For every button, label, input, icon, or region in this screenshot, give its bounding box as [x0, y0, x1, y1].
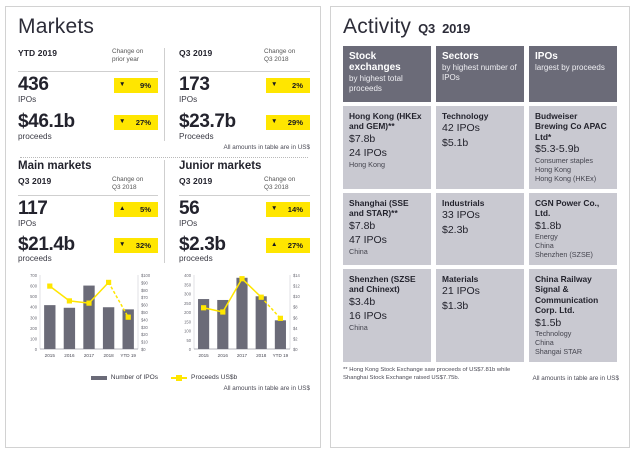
status-badge: ▼ 32% — [114, 238, 158, 253]
activity-panel: Activity Q3 2019 Stock exchanges by high… — [330, 6, 630, 448]
section-title: Main markets — [18, 160, 158, 172]
svg-text:100: 100 — [30, 337, 38, 342]
entity-value: $3.4b — [349, 296, 425, 310]
stat-proceeds: $21.4b proceeds ▼ 32% — [18, 234, 158, 264]
entity-value-2: $1.3b — [442, 300, 518, 314]
stat-period-label: Q3 2019 — [179, 176, 212, 186]
section-junior-markets: Junior markets Q3 2019 Change on Q3 2018… — [164, 160, 310, 264]
markets-top-stats: YTD 2019 Change on prior year 436 IPOs — [18, 48, 310, 141]
entity-name: Shenzhen (SZSE and Chinext) — [349, 274, 425, 295]
chart-legend: Number of IPOs Proceeds US$b — [18, 374, 310, 381]
svg-text:$2: $2 — [293, 337, 298, 342]
svg-text:2015: 2015 — [45, 353, 56, 358]
stat-label: IPOs — [18, 95, 49, 104]
entity-value: 21 IPOs — [442, 285, 518, 299]
page-title: Activity — [343, 15, 411, 39]
svg-text:$20: $20 — [141, 333, 149, 338]
column-title-line1: IPOs — [535, 51, 611, 62]
svg-text:700: 700 — [30, 273, 38, 278]
markets-sub-stats: Main markets Q3 2019 Change on Q3 2018 1… — [18, 160, 310, 264]
arrow-down-icon: ▼ — [119, 242, 125, 249]
svg-text:$4: $4 — [293, 326, 298, 331]
stat-value: $46.1b — [18, 111, 75, 133]
badge-value: 14% — [288, 205, 303, 214]
cell-sector: Industrials 33 IPOs $2.3b — [436, 193, 524, 265]
arrow-up-icon: ▲ — [119, 206, 125, 213]
cell-sector: Technology 42 IPOs $5.1b — [436, 106, 524, 189]
svg-text:$100: $100 — [141, 273, 151, 278]
svg-text:YTD 19: YTD 19 — [273, 353, 289, 358]
entity-name: Hong Kong (HKEx and GEM)** — [349, 111, 425, 132]
svg-text:$6: $6 — [293, 316, 298, 321]
change-caption-line2: prior year — [112, 56, 158, 64]
stat-value: $23.7b — [179, 111, 236, 133]
change-caption-line2: Q3 2018 — [264, 184, 310, 192]
svg-text:2015: 2015 — [198, 353, 209, 358]
entity-value-2: $2.3b — [442, 224, 518, 238]
svg-text:2017: 2017 — [84, 353, 95, 358]
svg-text:$70: $70 — [141, 296, 149, 301]
entity-value: $5.3-5.9b — [535, 143, 611, 157]
status-badge: ▼ 2% — [266, 78, 310, 93]
entity-value: $1.5b — [535, 317, 611, 331]
entity-name: CGN Power Co., Ltd. — [535, 198, 611, 219]
arrow-down-icon: ▼ — [271, 82, 277, 89]
change-caption-line2: Q3 2018 — [264, 56, 310, 64]
svg-text:300: 300 — [30, 316, 38, 321]
svg-text:$14: $14 — [293, 273, 301, 278]
column-subtitle: by highest number of IPOs — [442, 63, 518, 82]
svg-text:$50: $50 — [141, 310, 149, 315]
stat-period-label: Q3 2019 — [18, 176, 51, 186]
stat-proceeds: $23.7b Proceeds ▼ 29% — [179, 111, 310, 141]
divider — [179, 71, 310, 72]
stat-label: Proceeds — [179, 132, 236, 141]
entity-value: 33 IPOs — [442, 209, 518, 223]
change-caption: Change on prior year — [112, 48, 158, 64]
entity-name: Materials — [442, 274, 518, 284]
stat-value: $2.3b — [179, 234, 226, 256]
svg-text:100: 100 — [184, 329, 192, 334]
svg-text:350: 350 — [184, 283, 192, 288]
svg-text:$10: $10 — [141, 340, 149, 345]
entity-meta: Hong Kong — [349, 161, 425, 170]
dotted-divider — [20, 157, 308, 158]
status-badge: ▼ 27% — [114, 115, 158, 130]
stat-value: 56 — [179, 198, 199, 220]
entity-meta-3: Shangai STAR — [535, 348, 611, 357]
line-swatch-icon — [171, 377, 187, 379]
change-caption: Change on Q3 2018 — [264, 48, 310, 64]
entity-value-2: 47 IPOs — [349, 234, 425, 248]
stat-label: proceeds — [18, 132, 75, 141]
badge-value: 2% — [292, 81, 303, 90]
svg-text:2016: 2016 — [64, 353, 75, 358]
svg-text:400: 400 — [184, 273, 192, 278]
stat-label: proceeds — [179, 254, 226, 263]
stat-value: 117 — [18, 198, 47, 220]
svg-text:200: 200 — [30, 326, 38, 331]
svg-text:$30: $30 — [141, 325, 149, 330]
entity-name: Shanghai (SSE and STAR)** — [349, 198, 425, 219]
cell-ipo: Budweiser Brewing Co APAC Ltd* $5.3-5.9b… — [529, 106, 617, 189]
entity-meta-3: Hong Kong (HKEx) — [535, 175, 611, 184]
divider — [18, 195, 158, 196]
page-title: Markets — [18, 15, 310, 39]
column-headers: Stock exchanges by highest total proceed… — [343, 46, 619, 102]
bar-swatch-icon — [91, 376, 107, 380]
stat-value: $21.4b — [18, 234, 75, 256]
table-row: Shanghai (SSE and STAR)** $7.8b 47 IPOs … — [343, 193, 619, 265]
status-badge: ▲ 27% — [266, 238, 310, 253]
status-badge: ▼ 9% — [114, 78, 158, 93]
table-row: Shenzhen (SZSE and Chinext) $3.4b 16 IPO… — [343, 269, 619, 362]
badge-value: 27% — [136, 118, 151, 127]
svg-text:$80: $80 — [141, 288, 149, 293]
entity-value-2: $5.1b — [442, 137, 518, 151]
column-header-sectors: Sectors by highest number of IPOs — [436, 46, 524, 102]
column-subtitle: largest by proceeds — [535, 63, 611, 73]
badge-value: 9% — [140, 81, 151, 90]
column-title-line1: Stock — [349, 51, 425, 62]
entity-value: $7.8b — [349, 220, 425, 234]
main-markets-chart: 0100200300400500600700$0$10$20$30$40$50$… — [18, 271, 164, 371]
badge-value: 32% — [136, 241, 151, 250]
column-header-stock-exchanges: Stock exchanges by highest total proceed… — [343, 46, 431, 102]
svg-text:0: 0 — [189, 347, 192, 352]
column-subtitle: by highest total proceeds — [349, 74, 425, 93]
change-caption-line1: Change on — [112, 48, 158, 56]
svg-text:50: 50 — [186, 338, 191, 343]
entity-value-2: 24 IPOs — [349, 147, 425, 161]
activity-title-row: Activity Q3 2019 — [343, 15, 619, 39]
stat-ipos: 436 IPOs ▼ 9% — [18, 74, 158, 104]
column-header-ipos: IPOs largest by proceeds — [529, 46, 617, 102]
arrow-down-icon: ▼ — [271, 206, 277, 213]
badge-value: 27% — [288, 241, 303, 250]
svg-text:$12: $12 — [293, 284, 301, 289]
status-badge: ▼ 29% — [266, 115, 310, 130]
stat-proceeds: $46.1b proceeds ▼ 27% — [18, 111, 158, 141]
svg-text:$90: $90 — [141, 281, 149, 286]
infographic-page: Markets YTD 2019 Change on prior year 43… — [0, 0, 640, 454]
svg-text:500: 500 — [30, 295, 38, 300]
entity-meta: China — [349, 324, 425, 333]
cell-sector: Materials 21 IPOs $1.3b — [436, 269, 524, 362]
svg-text:0: 0 — [35, 347, 38, 352]
entity-name: Industrials — [442, 198, 518, 208]
svg-text:300: 300 — [184, 292, 192, 297]
stat-period-label: Q3 2019 — [179, 48, 212, 58]
cell-exchange: Shenzhen (SZSE and Chinext) $3.4b 16 IPO… — [343, 269, 431, 362]
entity-meta: China — [349, 248, 425, 257]
svg-text:2018: 2018 — [256, 353, 267, 358]
chart-svg: 0100200300400500600700$0$10$20$30$40$50$… — [18, 271, 164, 371]
title-year: 2019 — [442, 21, 470, 36]
entity-value: 42 IPOs — [442, 122, 518, 136]
entity-name: China Railway Signal & Communication Cor… — [535, 274, 611, 316]
charts-row: 0100200300400500600700$0$10$20$30$40$50$… — [18, 271, 310, 371]
svg-text:600: 600 — [30, 284, 38, 289]
footnote: ** Hong Kong Stock Exchange saw proceeds… — [343, 367, 513, 382]
change-caption: Change on Q3 2018 — [264, 176, 310, 192]
arrow-down-icon: ▼ — [119, 82, 125, 89]
svg-text:400: 400 — [30, 305, 38, 310]
cell-exchange: Shanghai (SSE and STAR)** $7.8b 47 IPOs … — [343, 193, 431, 265]
stat-block-q3: Q3 2019 Change on Q3 2018 173 IPOs — [164, 48, 310, 141]
svg-text:YTD 19: YTD 19 — [120, 353, 136, 358]
amounts-note: All amounts in table are in US$ — [533, 375, 619, 382]
column-title-line2: exchanges — [349, 62, 425, 73]
entity-value: $1.8b — [535, 220, 611, 234]
stat-label: IPOs — [179, 219, 199, 228]
divider — [179, 195, 310, 196]
legend-label: Number of IPOs — [111, 374, 158, 381]
svg-text:$60: $60 — [141, 303, 149, 308]
entity-name: Technology — [442, 111, 518, 121]
entity-name: Budweiser Brewing Co APAC Ltd* — [535, 111, 611, 142]
status-badge: ▲ 5% — [114, 202, 158, 217]
svg-text:$0: $0 — [293, 347, 298, 352]
legend-label: Proceeds US$b — [191, 374, 237, 381]
change-caption-line1: Change on — [112, 176, 158, 184]
cell-ipo: CGN Power Co., Ltd. $1.8b Energy China S… — [529, 193, 617, 265]
svg-text:2016: 2016 — [218, 353, 229, 358]
svg-text:2017: 2017 — [237, 353, 248, 358]
badge-value: 5% — [140, 205, 151, 214]
badge-value: 29% — [288, 118, 303, 127]
stat-period-label: YTD 2019 — [18, 48, 57, 58]
arrow-down-icon: ▼ — [119, 119, 125, 126]
svg-text:250: 250 — [184, 301, 192, 306]
svg-text:150: 150 — [184, 320, 192, 325]
cell-exchange: Hong Kong (HKEx and GEM)** $7.8b 24 IPOs… — [343, 106, 431, 189]
stat-ipos: 56 IPOs ▼ 14% — [179, 198, 310, 228]
column-title-line1: Sectors — [442, 51, 518, 62]
stat-value: 173 — [179, 74, 210, 96]
stat-block-ytd: YTD 2019 Change on prior year 436 IPOs — [18, 48, 164, 141]
arrow-up-icon: ▲ — [271, 242, 277, 249]
markets-panel: Markets YTD 2019 Change on prior year 43… — [5, 6, 321, 448]
entity-meta-3: Shenzhen (SZSE) — [535, 251, 611, 260]
status-badge: ▼ 14% — [266, 202, 310, 217]
stat-proceeds: $2.3b proceeds ▲ 27% — [179, 234, 310, 264]
table-row: Hong Kong (HKEx and GEM)** $7.8b 24 IPOs… — [343, 106, 619, 189]
entity-value: $7.8b — [349, 133, 425, 147]
divider — [18, 71, 158, 72]
arrow-down-icon: ▼ — [271, 119, 277, 126]
svg-text:200: 200 — [184, 310, 192, 315]
stat-label: IPOs — [18, 219, 47, 228]
stat-ipos: 173 IPOs ▼ 2% — [179, 74, 310, 104]
legend-item-line: Proceeds US$b — [171, 374, 237, 381]
panel-footer: ** Hong Kong Stock Exchange saw proceeds… — [343, 367, 619, 382]
entity-value-2: 16 IPOs — [349, 310, 425, 324]
cell-ipo: China Railway Signal & Communication Cor… — [529, 269, 617, 362]
legend-item-bars: Number of IPOs — [91, 374, 158, 381]
section-main-markets: Main markets Q3 2019 Change on Q3 2018 1… — [18, 160, 164, 264]
chart-svg: 050100150200250300350400$0$2$4$6$8$10$12… — [174, 271, 314, 371]
svg-text:2018: 2018 — [103, 353, 114, 358]
amounts-note: All amounts in table are in US$ — [18, 144, 310, 151]
svg-text:$0: $0 — [141, 347, 146, 352]
change-caption: Change on Q3 2018 — [112, 176, 158, 192]
section-title: Junior markets — [179, 160, 310, 172]
svg-text:$8: $8 — [293, 305, 298, 310]
svg-text:$40: $40 — [141, 318, 149, 323]
stat-label: IPOs — [179, 95, 210, 104]
change-caption-line1: Change on — [264, 48, 310, 56]
stat-ipos: 117 IPOs ▲ 5% — [18, 198, 158, 228]
stat-value: 436 — [18, 74, 49, 96]
chart-amounts-note: All amounts in table are in US$ — [18, 385, 310, 392]
change-caption-line2: Q3 2018 — [112, 184, 158, 192]
junior-markets-chart: 050100150200250300350400$0$2$4$6$8$10$12… — [164, 271, 310, 371]
svg-text:$10: $10 — [293, 295, 301, 300]
title-quarter: Q3 — [418, 21, 435, 36]
stat-label: proceeds — [18, 254, 75, 263]
change-caption-line1: Change on — [264, 176, 310, 184]
